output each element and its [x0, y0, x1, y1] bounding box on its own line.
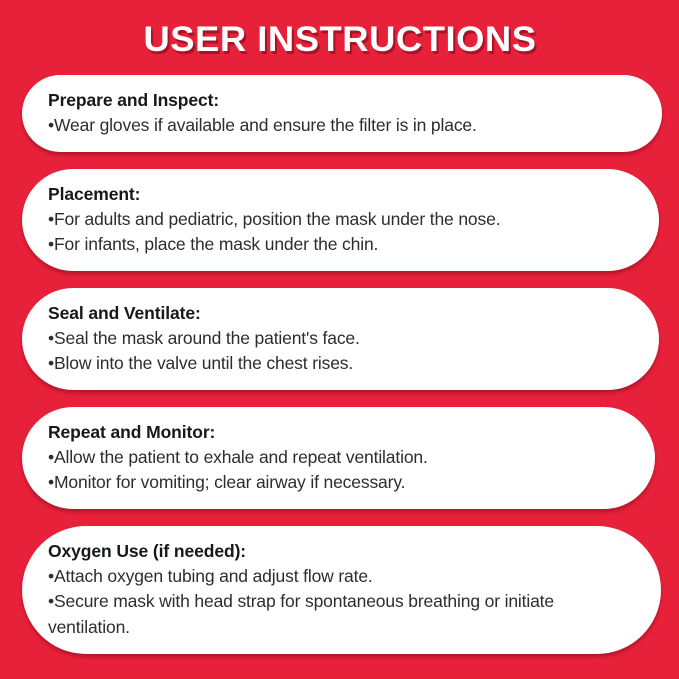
card-bullet-text: Blow into the valve until the chest rise… [54, 353, 353, 373]
card-bullet-text: Secure mask with head strap for spontane… [48, 591, 554, 636]
page-title: USER INSTRUCTIONS [143, 22, 536, 59]
card-bullet-text: Seal the mask around the patient's face. [54, 328, 360, 348]
card-bullet-text: For adults and pediatric, position the m… [54, 209, 500, 229]
card-bullet-text: Allow the patient to exhale and repeat v… [54, 447, 428, 467]
card-bullet-text: Wear gloves if available and ensure the … [54, 115, 477, 135]
instruction-card: Repeat and Monitor: •Allow the patient t… [22, 407, 655, 509]
card-bullet-line: •Monitor for vomiting; clear airway if n… [48, 470, 621, 495]
card-heading: Repeat and Monitor: [48, 420, 621, 445]
card-bullet-line: •For infants, place the mask under the c… [48, 232, 625, 257]
card-bullet-line: •Seal the mask around the patient's face… [48, 326, 625, 351]
instruction-card: Oxygen Use (if needed): •Attach oxygen t… [22, 526, 661, 653]
card-bullet-text: Monitor for vomiting; clear airway if ne… [54, 472, 405, 492]
card-bullet-text: Attach oxygen tubing and adjust flow rat… [54, 566, 373, 586]
card-heading: Placement: [48, 182, 625, 207]
card-bullet-line: •Blow into the valve until the chest ris… [48, 351, 625, 376]
instruction-card: Seal and Ventilate: •Seal the mask aroun… [22, 288, 659, 390]
card-heading: Prepare and Inspect: [48, 88, 628, 113]
card-bullet-line: •For adults and pediatric, position the … [48, 207, 625, 232]
instruction-card-stack: Prepare and Inspect: •Wear gloves if ava… [0, 75, 679, 654]
card-bullet-line: •Wear gloves if available and ensure the… [48, 113, 628, 138]
instruction-card: Placement: •For adults and pediatric, po… [22, 169, 659, 271]
card-bullet-line: •Attach oxygen tubing and adjust flow ra… [48, 564, 627, 589]
instruction-card: Prepare and Inspect: •Wear gloves if ava… [22, 75, 662, 152]
card-heading: Oxygen Use (if needed): [48, 539, 627, 564]
instructions-poster: USER INSTRUCTIONS Prepare and Inspect: •… [0, 0, 679, 679]
card-bullet-line: •Secure mask with head strap for spontan… [48, 589, 627, 639]
card-heading: Seal and Ventilate: [48, 301, 625, 326]
card-bullet-line: •Allow the patient to exhale and repeat … [48, 445, 621, 470]
card-bullet-text: For infants, place the mask under the ch… [54, 234, 378, 254]
